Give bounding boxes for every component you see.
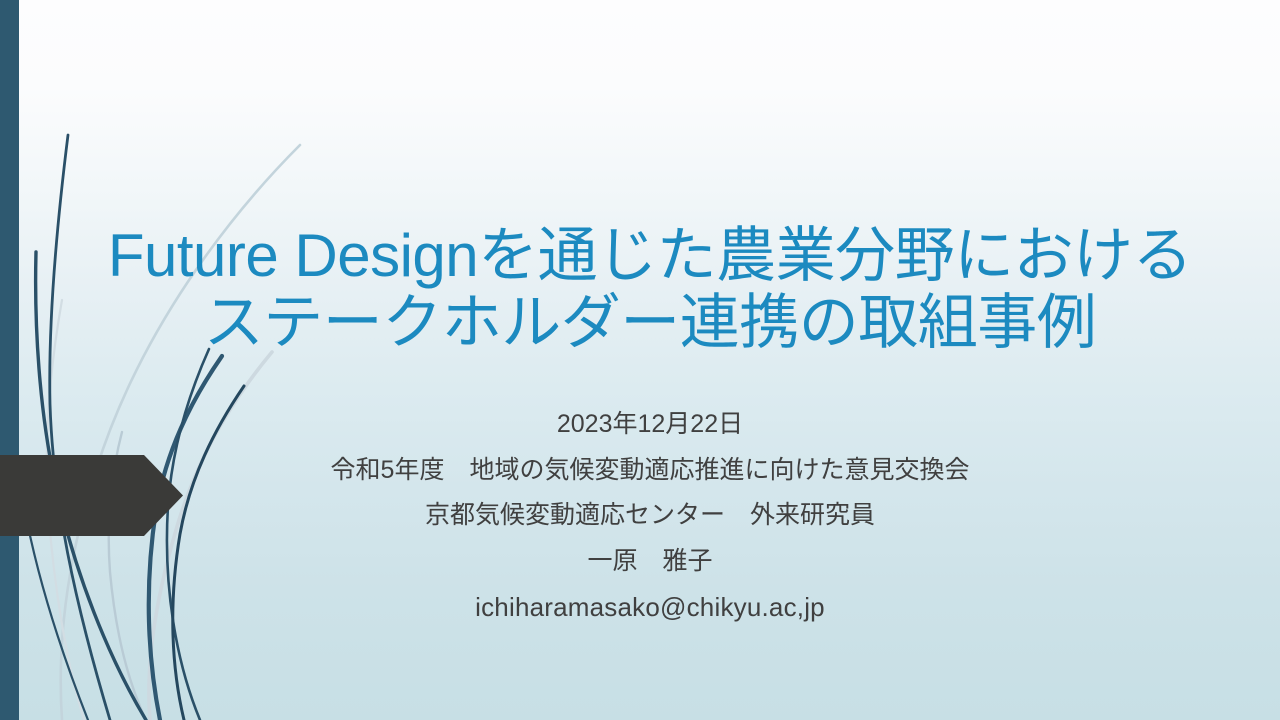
subtitle-block: 2023年12月22日 令和5年度 地域の気候変動適応推進に向けた意見交換会 京… (60, 402, 1240, 631)
subtitle-date: 2023年12月22日 (60, 402, 1240, 448)
title-line-2: ステークホルダー連携の取組事例 (60, 289, 1240, 356)
title-slide: Future Designを通じた農業分野における ステークホルダー連携の取組事… (0, 0, 1280, 720)
left-accent-bar (0, 0, 19, 720)
page-title: Future Designを通じた農業分野における ステークホルダー連携の取組事… (60, 222, 1240, 356)
subtitle-affiliation: 京都気候変動適応センター 外来研究員 (60, 493, 1240, 539)
title-line-1: Future Designを通じた農業分野における (60, 222, 1240, 289)
subtitle-presenter-name: 一原 雅子 (60, 539, 1240, 585)
subtitle-email: ichiharamasako@chikyu.ac,jp (60, 584, 1240, 631)
subtitle-event-name: 令和5年度 地域の気候変動適応推進に向けた意見交換会 (60, 448, 1240, 494)
